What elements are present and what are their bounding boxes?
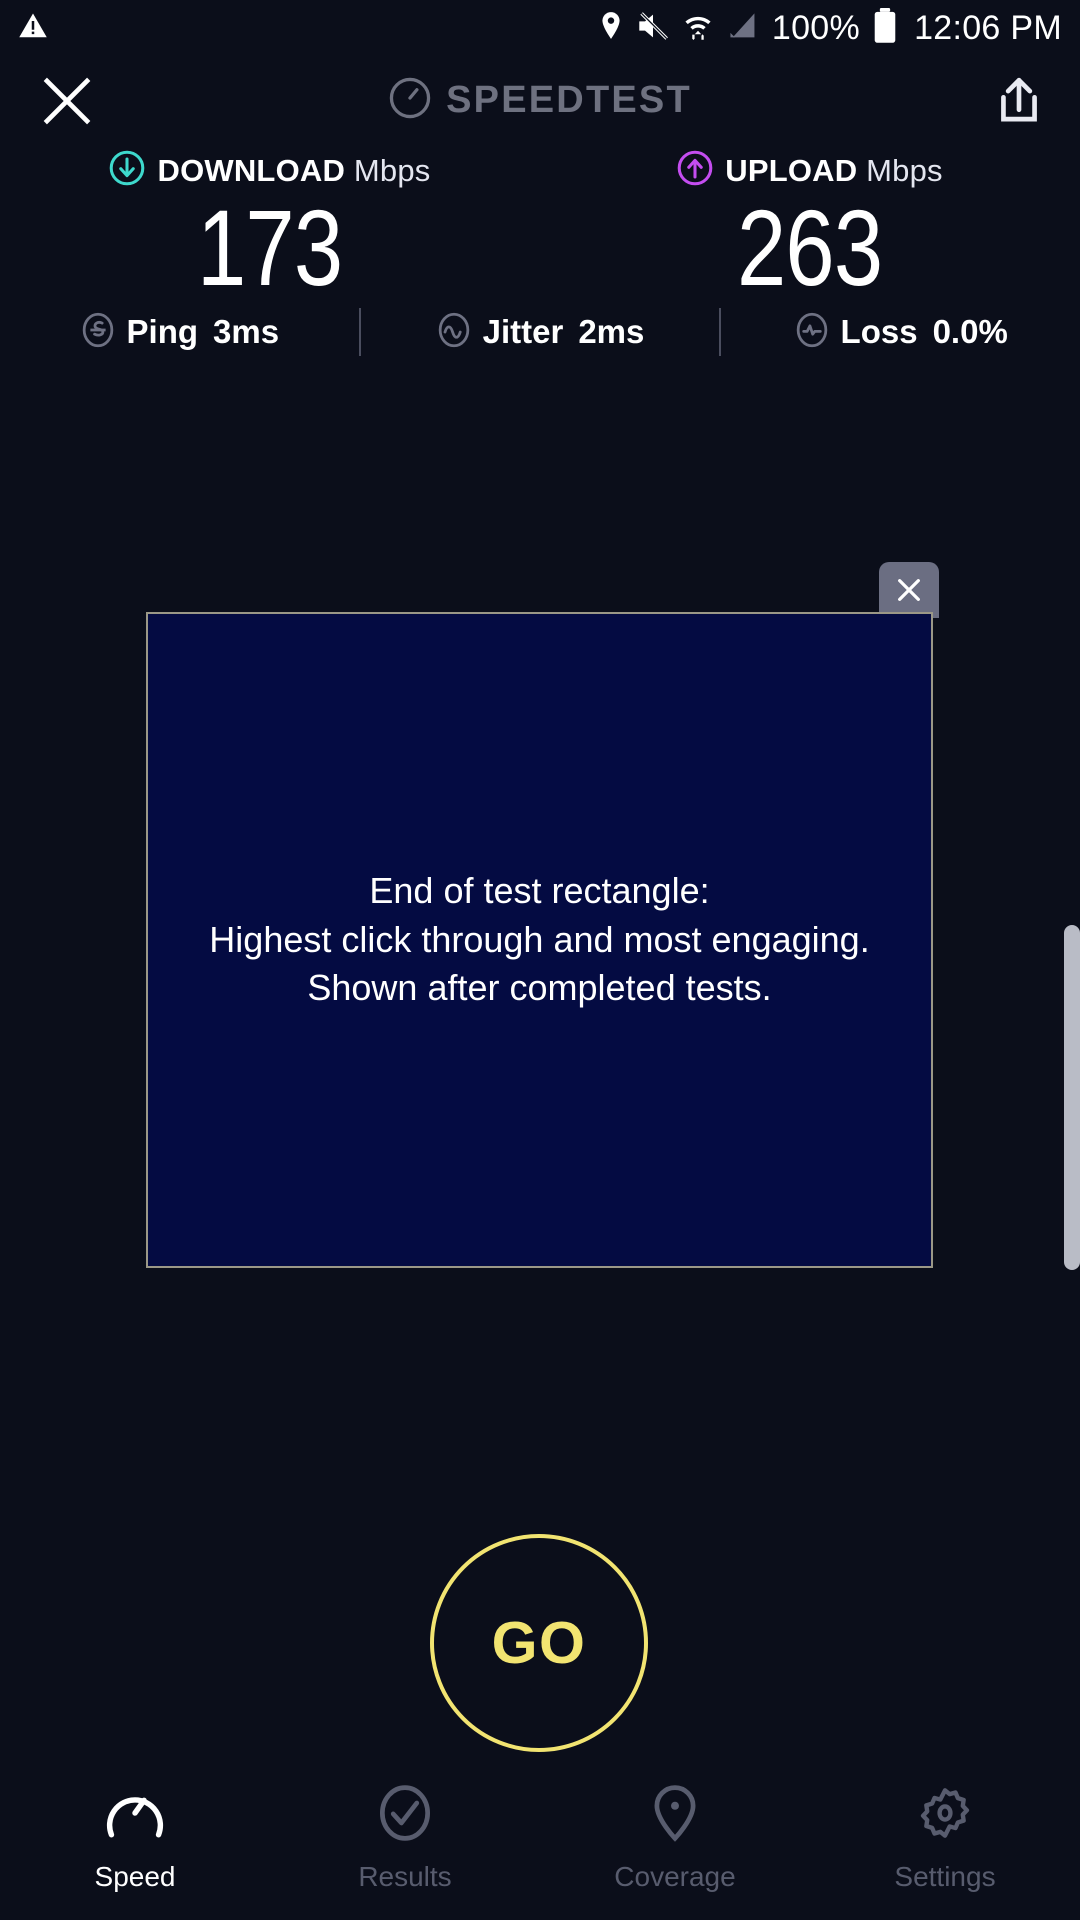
- ad-line-1: End of test rectangle:: [209, 867, 869, 916]
- advertisement-banner[interactable]: End of test rectangle: Highest click thr…: [146, 612, 933, 1268]
- jitter-icon: [436, 312, 472, 353]
- brand-title: SPEEDTEST: [446, 79, 692, 122]
- go-button-label: GO: [492, 1609, 587, 1677]
- upload-arrow-icon: [677, 150, 713, 191]
- ad-line-3: Shown after completed tests.: [209, 964, 869, 1013]
- gear-icon: [916, 1784, 974, 1847]
- location-pin-icon: [598, 11, 624, 46]
- share-icon[interactable]: [994, 74, 1044, 135]
- nav-label-speed: Speed: [95, 1861, 176, 1893]
- download-result: DOWNLOAD Mbps 173: [0, 140, 540, 290]
- ad-line-2: Highest click through and most engaging.: [209, 916, 869, 965]
- metric-jitter-label: Jitter: [483, 313, 564, 351]
- metric-ping: Ping 3ms: [0, 312, 359, 353]
- results-summary: DOWNLOAD Mbps 173 UPLOAD Mbps 263: [0, 140, 1080, 290]
- metric-loss-value: 0.0%: [933, 313, 1008, 351]
- metrics-row: Ping 3ms Jitter 2ms Loss 0.0%: [0, 300, 1080, 364]
- app-brand: SPEEDTEST: [0, 76, 1080, 125]
- metric-jitter-value: 2ms: [578, 313, 644, 351]
- nav-label-settings: Settings: [894, 1861, 995, 1893]
- battery-full-icon: [873, 8, 897, 49]
- ping-icon: [80, 312, 116, 353]
- ad-text: End of test rectangle: Highest click thr…: [209, 867, 869, 1014]
- download-arrow-icon: [109, 150, 145, 191]
- metric-loss-label: Loss: [841, 313, 918, 351]
- status-bar: 100% 12:06 PM: [0, 0, 1080, 56]
- speedometer-icon: [388, 76, 432, 125]
- nav-item-speed[interactable]: Speed: [0, 1784, 270, 1893]
- nav-item-results[interactable]: Results: [270, 1784, 540, 1893]
- metric-ping-label: Ping: [127, 313, 199, 351]
- download-label: DOWNLOAD Mbps: [157, 153, 430, 189]
- metric-loss: Loss 0.0%: [721, 312, 1080, 353]
- bottom-navigation: Speed Results Coverage Settings: [0, 1774, 1080, 1920]
- go-button[interactable]: GO: [430, 1534, 648, 1752]
- status-bar-clock: 12:06 PM: [914, 9, 1062, 48]
- mute-icon: [637, 11, 669, 46]
- warning-triangle-icon: [18, 11, 48, 46]
- map-pin-icon: [649, 1784, 701, 1847]
- nav-label-coverage: Coverage: [614, 1861, 735, 1893]
- upload-label: UPLOAD Mbps: [725, 153, 943, 189]
- metric-jitter: Jitter 2ms: [361, 312, 720, 353]
- wifi-icon: [682, 10, 714, 47]
- ad-close-button[interactable]: [879, 562, 939, 618]
- metric-ping-value: 3ms: [213, 313, 279, 351]
- upload-result: UPLOAD Mbps 263: [540, 140, 1080, 290]
- download-value: 173: [197, 193, 342, 303]
- nav-item-coverage[interactable]: Coverage: [540, 1784, 810, 1893]
- nav-label-results: Results: [358, 1861, 451, 1893]
- cell-signal-icon: [727, 11, 759, 46]
- speedometer-icon: [104, 1784, 166, 1847]
- upload-value: 263: [737, 193, 882, 303]
- check-circle-icon: [376, 1784, 434, 1847]
- loss-icon: [794, 312, 830, 353]
- scrollbar-thumb[interactable]: [1064, 925, 1080, 1270]
- nav-item-settings[interactable]: Settings: [810, 1784, 1080, 1893]
- battery-percent-label: 100%: [772, 9, 860, 48]
